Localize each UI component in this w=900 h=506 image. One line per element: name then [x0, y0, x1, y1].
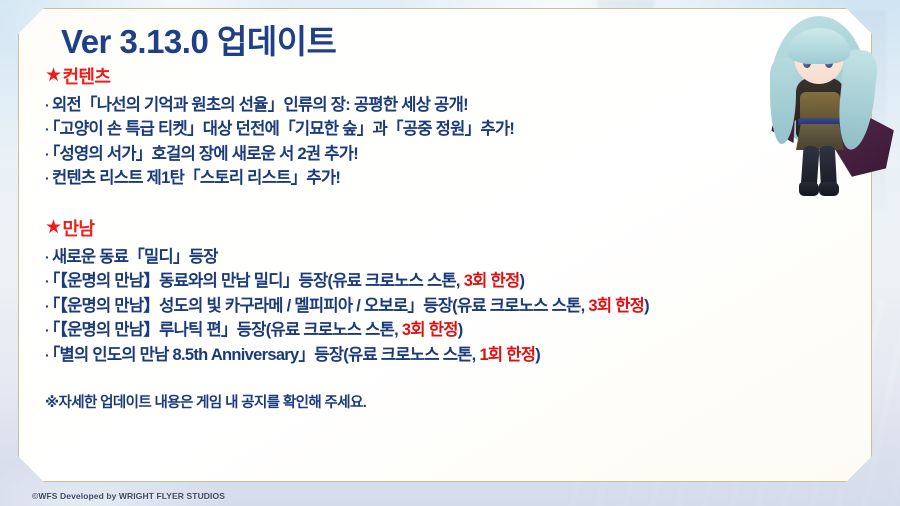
list-item-text: 「성영의 서가」호걸의 장에 새로운 서 2권 추가! [52, 145, 358, 163]
section-spacer [45, 191, 845, 213]
list-item-text: 「【운명의 만남】루나틱 편」등장(유료 크로노스 스톤, [52, 321, 402, 339]
bullet-icon: · [45, 347, 49, 363]
list-item: ·「【운명의 만남】성도의 빛 카구라메 / 멜피피아 / 오보로」등장(유료 … [45, 294, 845, 319]
copyright-credit: ©WFS Developed by WRIGHT FLYER STUDIOS [32, 491, 225, 501]
section-heading-encounter: ★ 만남 [45, 215, 845, 241]
list-item-text: 컨텐츠 리스트 제1탄「스토리 리스트」추가! [52, 169, 340, 187]
character-boot [799, 182, 819, 196]
encounter-list: ·새로운 동료「밀디」등장 ·「【운명의 만남】동료와의 만남 밀디」등장(유료… [45, 245, 845, 368]
list-item: ·「【운명의 만남】루나틱 편」등장(유료 크로노스 스톤, 3회 한정) [45, 318, 845, 343]
list-item: ·「고양이 손 특급 티켓」대상 던전에「기묘한 숲」과「공중 정원」추가! [45, 117, 845, 142]
contents-list: ·외전「나선의 기억과 원초의 선율」인류의 장: 공평한 세상 공개! ·「고… [45, 93, 845, 191]
bullet-icon: · [45, 97, 49, 113]
chibi-character-illustration [744, 6, 894, 211]
update-announcement-banner: Ver 3.13.0 업데이트 ★ 컨텐츠 ·외전「나선의 기억과 원초의 선율… [0, 0, 900, 506]
section-heading-label: 만남 [62, 215, 94, 241]
bullet-icon: · [45, 298, 49, 314]
list-item-text-post: ) [520, 272, 525, 290]
character-skirt [796, 124, 844, 150]
list-item: ·「【운명의 만남】동료와의 만남 밀디」등장(유료 크로노스 스톤, 3회 한… [45, 269, 845, 294]
list-item: ·새로운 동료「밀디」등장 [45, 245, 845, 270]
list-item-text-post: ) [535, 346, 540, 364]
limit-highlight: 1회 한정 [479, 346, 535, 364]
list-item-text: 「별의 인도의 만남 8.5th Anniversary」등장(유료 크로노스 … [52, 346, 479, 364]
list-item-text: 「【운명의 만남】동료와의 만남 밀디」등장(유료 크로노스 스톤, [52, 272, 464, 290]
star-icon: ★ [45, 218, 61, 237]
footnote: ※자세한 업데이트 내용은 게임 내 공지를 확인해 주세요. [45, 391, 845, 412]
list-item-text: 외전「나선의 기억과 원초의 선율」인류의 장: 공평한 세상 공개! [52, 96, 468, 114]
page-title: Ver 3.13.0 업데이트 [61, 23, 845, 61]
bullet-icon: · [45, 121, 49, 137]
bullet-icon: · [45, 249, 49, 265]
list-item: ·외전「나선의 기억과 원초의 선율」인류의 장: 공평한 세상 공개! [45, 93, 845, 118]
limit-highlight: 3회 한정 [402, 321, 458, 339]
section-heading-contents: ★ 컨텐츠 [45, 63, 845, 89]
bullet-icon: · [45, 146, 49, 162]
list-item-text: 「【운명의 만남】성도의 빛 카구라메 / 멜피피아 / 오보로」등장(유료 크… [52, 297, 588, 315]
section-heading-label: 컨텐츠 [62, 63, 110, 89]
list-item-text-post: ) [644, 297, 649, 315]
star-icon: ★ [45, 66, 61, 85]
list-item: ·「성영의 서가」호걸의 장에 새로운 서 2권 추가! [45, 142, 845, 167]
list-item-text: 새로운 동료「밀디」등장 [52, 248, 218, 266]
list-item: ·컨텐츠 리스트 제1탄「스토리 리스트」추가! [45, 166, 845, 191]
bullet-icon: · [45, 322, 49, 338]
list-item: ·「별의 인도의 만남 8.5th Anniversary」등장(유료 크로노스… [45, 343, 845, 368]
limit-highlight: 3회 한정 [464, 272, 520, 290]
bullet-icon: · [45, 170, 49, 186]
character-boot [819, 182, 839, 196]
list-item-text: 「고양이 손 특급 티켓」대상 던전에「기묘한 숲」과「공중 정원」추가! [52, 120, 514, 138]
limit-highlight: 3회 한정 [588, 297, 644, 315]
bullet-icon: · [45, 273, 49, 289]
list-item-text-post: ) [458, 321, 463, 339]
